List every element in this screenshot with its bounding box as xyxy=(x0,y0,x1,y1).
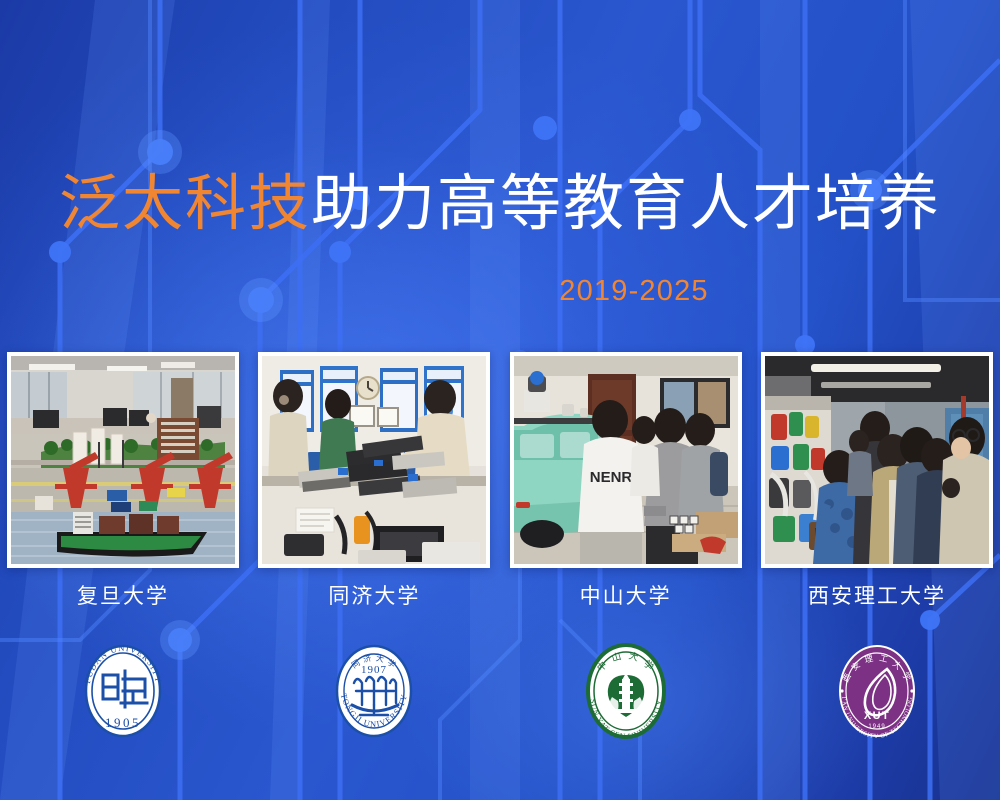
university-caption-row: 复旦大学 同济大学 中山大学 西安理工大学 xyxy=(0,582,1000,612)
caption-tongji: 同济大学 xyxy=(258,582,490,612)
logo-cell-sysu: 中 山 大 学 SUN YAT-SEN UNIVERSITY xyxy=(510,628,742,753)
fudan-university-logo: FUDAN UNIVERSITY 1905 xyxy=(75,635,171,747)
port-logistics-scale-model-photo xyxy=(11,356,235,564)
photo-card-xut[interactable] xyxy=(761,352,993,568)
photo-card-sysu[interactable]: NENR xyxy=(510,352,742,568)
university-logo-row: FUDAN UNIVERSITY 1905 xyxy=(0,628,1000,753)
year-range: 2019-2025 xyxy=(559,275,709,308)
caption-sysu: 中山大学 xyxy=(510,582,742,612)
electronics-lab-students-photo xyxy=(262,356,486,564)
svg-text:NENR: NENR xyxy=(589,469,632,486)
automation-equipment-visit-photo xyxy=(765,356,989,564)
photo-card-fudan[interactable] xyxy=(7,352,239,568)
poster-canvas: 泛太科技助力高等教育人才培养 2019-2025 xyxy=(0,0,1000,800)
photo-card-tongji[interactable] xyxy=(258,352,490,568)
logo-cell-xut: 西 安 理 工 大 学 XI'AN UNIVERSITY OF TECHNOLO… xyxy=(761,628,993,753)
tongji-university-logo: 同 济 大 学 TONGJI UNIVERSITY 1907 xyxy=(326,635,422,747)
logo-cell-tongji: 同 济 大 学 TONGJI UNIVERSITY 1907 xyxy=(258,628,490,753)
caption-xut: 西安理工大学 xyxy=(761,582,993,612)
xian-university-of-technology-logo: 西 安 理 工 大 学 XI'AN UNIVERSITY OF TECHNOLO… xyxy=(829,635,925,747)
logo-cell-fudan: FUDAN UNIVERSITY 1905 xyxy=(7,628,239,753)
caption-fudan: 复旦大学 xyxy=(7,582,239,612)
sun-yat-sen-university-logo: 中 山 大 学 SUN YAT-SEN UNIVERSITY xyxy=(576,635,676,747)
svg-text:1905: 1905 xyxy=(105,715,141,730)
svg-text:1949: 1949 xyxy=(868,724,885,730)
year-range-row: 2019-2025 xyxy=(0,275,1000,308)
autonomous-vehicle-demo-photo: NENR xyxy=(514,356,738,564)
photo-gallery: NENR xyxy=(0,352,1000,568)
svg-text:XUT: XUT xyxy=(864,710,890,722)
svg-text:1907: 1907 xyxy=(361,664,387,676)
